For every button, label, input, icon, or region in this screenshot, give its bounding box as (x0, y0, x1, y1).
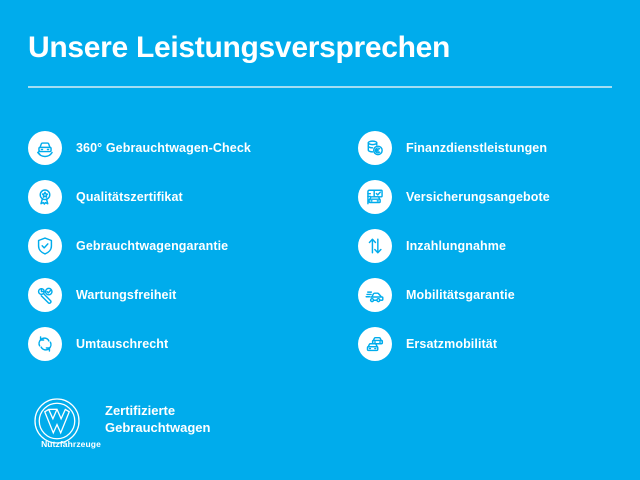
vw-subbrand-label: Nutzfahrzeuge (28, 439, 114, 449)
promise-item-trade-in[interactable]: Inzahlungnahme (358, 221, 640, 270)
car-360-check-icon (28, 131, 62, 165)
promise-column-right: Finanzdienstleistungen Versicherungsange… (358, 123, 640, 368)
shield-check-icon (28, 229, 62, 263)
promise-item-mobility-guarantee[interactable]: Mobilitätsgarantie (358, 270, 640, 319)
promise-column-left: 360° Gebrauchtwagen-Check Qualitätszerti… (28, 123, 318, 368)
wrench-gear-icon (28, 278, 62, 312)
promise-label: Inzahlungnahme (406, 239, 506, 253)
brand-block: Nutzfahrzeuge Zertifizierte Gebrauchtwag… (22, 396, 322, 456)
promise-item-360-check[interactable]: 360° Gebrauchtwagen-Check (28, 123, 318, 172)
page-title: Unsere Leistungsversprechen (28, 30, 450, 66)
brand-claim: Zertifizierte Gebrauchtwagen (105, 402, 210, 436)
promise-item-financial-services[interactable]: Finanzdienstleistungen (358, 123, 640, 172)
promise-label: 360° Gebrauchtwagen-Check (76, 141, 251, 155)
promise-item-exchange-right[interactable]: Umtauschrecht (28, 319, 318, 368)
promise-item-quality-certificate[interactable]: Qualitätszertifikat (28, 172, 318, 221)
promise-label: Qualitätszertifikat (76, 190, 183, 204)
promise-item-insurance-offers[interactable]: Versicherungsangebote (358, 172, 640, 221)
two-cars-icon (358, 327, 392, 361)
promise-label: Umtauschrecht (76, 337, 168, 351)
brand-claim-line1: Zertifizierte (105, 402, 210, 419)
promise-label: Versicherungsangebote (406, 190, 550, 204)
document-car-icon (358, 180, 392, 214)
award-rosette-icon (28, 180, 62, 214)
brand-claim-line2: Gebrauchtwagen (105, 419, 210, 436)
coins-euro-icon (358, 131, 392, 165)
arrows-up-down-icon (358, 229, 392, 263)
promise-label: Ersatzmobilität (406, 337, 497, 351)
promise-item-warranty[interactable]: Gebrauchtwagengarantie (28, 221, 318, 270)
promise-label: Wartungsfreiheit (76, 288, 176, 302)
promise-item-replacement-mobility[interactable]: Ersatzmobilität (358, 319, 640, 368)
promise-label: Finanzdienstleistungen (406, 141, 547, 155)
car-speed-icon (358, 278, 392, 312)
exchange-arrows-icon (28, 327, 62, 361)
promise-label: Mobilitätsgarantie (406, 288, 515, 302)
promise-item-maintenance-free[interactable]: Wartungsfreiheit (28, 270, 318, 319)
title-divider (28, 86, 612, 88)
promise-label: Gebrauchtwagengarantie (76, 239, 228, 253)
volkswagen-logo: Nutzfahrzeuge (32, 396, 88, 458)
promise-slide: Unsere Leistungsversprechen 360° Gebrauc… (0, 0, 640, 480)
